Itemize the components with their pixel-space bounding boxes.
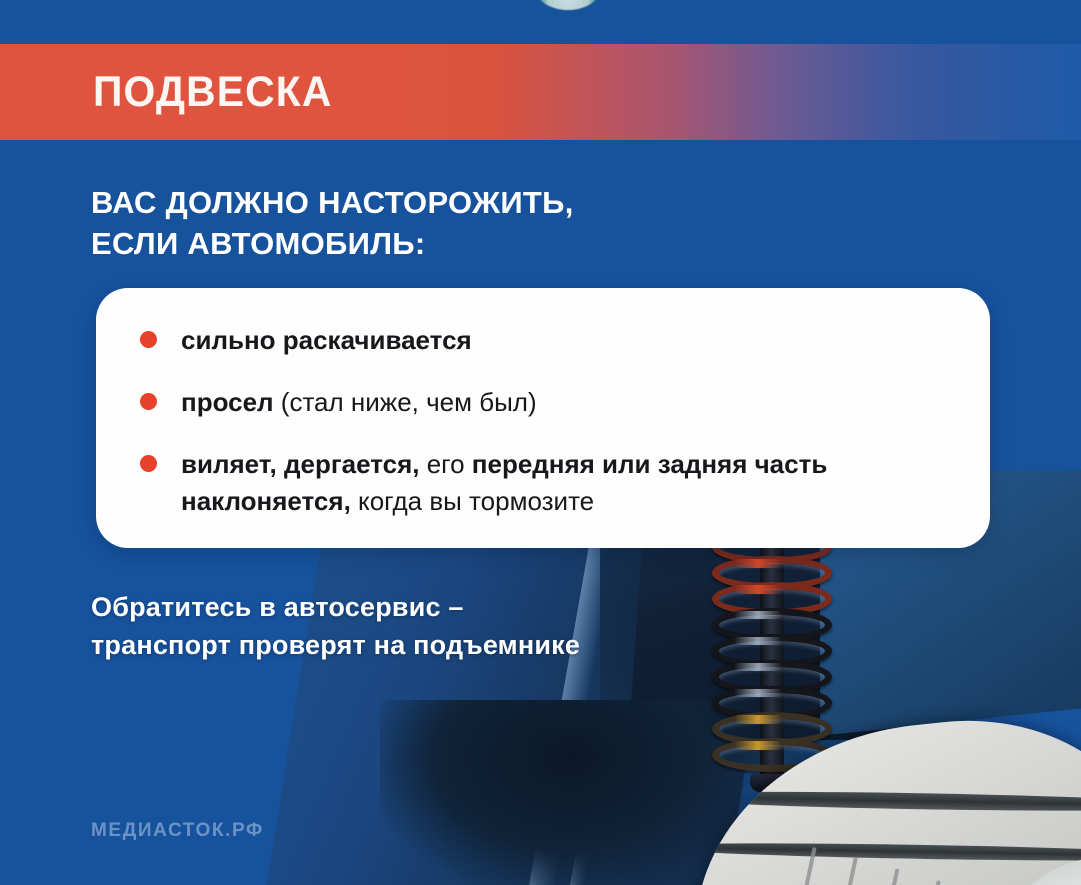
- heading-line-1: ВАС ДОЛЖНО НАСТОРОЖИТЬ,: [91, 182, 574, 223]
- text-run: виляет, дергается,: [181, 449, 420, 479]
- watermark: МЕДИАСТОК.РФ: [91, 820, 264, 842]
- top-strip: [0, 0, 1081, 44]
- list-item: сильно раскачивается: [140, 322, 950, 359]
- bullet-dot-icon: [140, 455, 157, 472]
- symptoms-list: сильно раскачиваетсяпросел (стал ниже, ч…: [140, 322, 950, 520]
- bullet-dot-icon: [140, 393, 157, 410]
- symptoms-card: сильно раскачиваетсяпросел (стал ниже, ч…: [96, 288, 990, 548]
- coil-spring-icon: [712, 530, 832, 780]
- page-heading: ВАС ДОЛЖНО НАСТОРОЖИТЬ, ЕСЛИ АВТОМОБИЛЬ:: [91, 182, 574, 264]
- banner-title: ПОДВЕСКА: [93, 71, 333, 114]
- list-item: просел (стал ниже, чем был): [140, 384, 950, 421]
- list-item: виляет, дергается, его передняя или задн…: [140, 446, 950, 520]
- list-item-label: просел (стал ниже, чем был): [181, 384, 537, 421]
- partial-circular-logo-icon: [535, 0, 601, 10]
- infographic-slide: ПОДВЕСКА ВАС ДОЛЖНО НАСТОРОЖИТЬ, ЕСЛИ АВ…: [0, 0, 1081, 885]
- call-to-action-line-1: Обратитесь в автосервис –: [91, 588, 580, 626]
- text-run: когда вы тормозите: [351, 486, 594, 516]
- text-run: его: [420, 449, 472, 479]
- text-run: (стал ниже, чем был): [274, 387, 537, 417]
- call-to-action: Обратитесь в автосервис – транспорт пров…: [91, 588, 580, 665]
- text-run: просел: [181, 387, 274, 417]
- bullet-dot-icon: [140, 331, 157, 348]
- heading-line-2: ЕСЛИ АВТОМОБИЛЬ:: [91, 223, 574, 264]
- section-banner: ПОДВЕСКА: [0, 44, 1081, 140]
- list-item-label: виляет, дергается, его передняя или задн…: [181, 446, 950, 520]
- list-item-label: сильно раскачивается: [181, 322, 472, 359]
- call-to-action-line-2: транспорт проверят на подъемнике: [91, 626, 580, 664]
- text-run: сильно раскачивается: [181, 325, 472, 355]
